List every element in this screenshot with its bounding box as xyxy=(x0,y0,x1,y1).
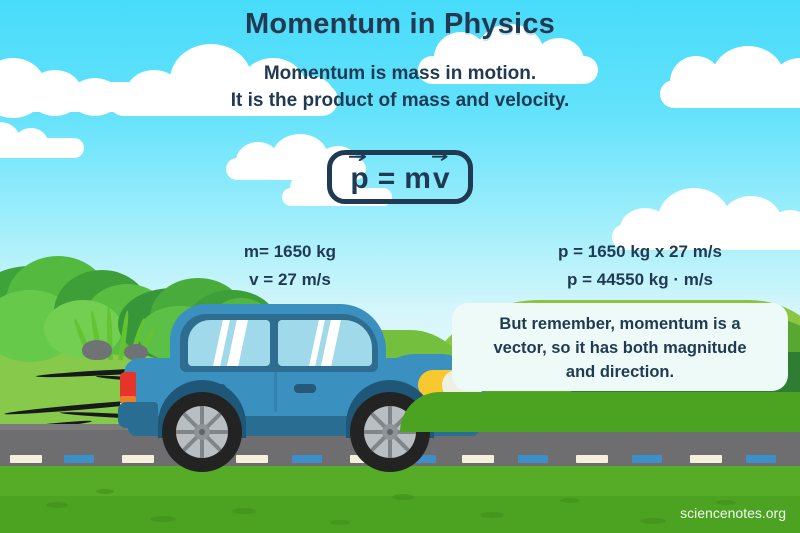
calc-line-1: p = 1650 kg x 27 m/s xyxy=(490,238,790,266)
infographic-canvas: Momentum in Physics Momentum is mass in … xyxy=(0,0,800,533)
car-door-seam xyxy=(274,372,277,412)
rock-left xyxy=(82,340,112,360)
formula-m: m xyxy=(404,164,431,194)
note-line-3: and direction. xyxy=(464,360,776,384)
page-title: Momentum in Physics xyxy=(0,8,800,41)
formula-v: v xyxy=(433,162,450,195)
hill-near xyxy=(400,392,800,432)
calc-line-2: p = 44550 kg · m/s xyxy=(490,266,790,294)
given-velocity: v = 27 m/s xyxy=(180,266,400,294)
formula-equals: = xyxy=(378,164,396,194)
vector-arrow-icon xyxy=(432,151,449,161)
formula-p: p xyxy=(350,162,368,195)
vector-v: v xyxy=(433,164,450,194)
calculation-values: p = 1650 kg x 27 m/s p = 44550 kg · m/s xyxy=(490,238,790,294)
given-mass: m= 1650 kg xyxy=(180,238,400,266)
subtitle-line-1: Momentum is mass in motion. xyxy=(0,60,800,87)
note-bubble: But remember, momentum is a vector, so i… xyxy=(452,303,788,391)
momentum-formula: p = m v xyxy=(350,160,449,194)
subtitle-line-2: It is the product of mass and velocity. xyxy=(0,87,800,114)
vector-arrow-icon xyxy=(349,151,367,161)
note-line-1: But remember, momentum is a xyxy=(464,312,776,336)
vector-p: p xyxy=(350,164,368,194)
car-rear-window xyxy=(188,320,270,366)
car-illustration xyxy=(118,296,488,471)
given-values: m= 1650 kg v = 27 m/s xyxy=(180,238,400,294)
formula-box: p = m v xyxy=(327,150,473,204)
car-rear-bumper xyxy=(118,402,158,428)
note-line-2: vector, so it has both magnitude xyxy=(464,336,776,360)
car-door-handle-front xyxy=(294,384,316,393)
subtitle: Momentum is mass in motion. It is the pr… xyxy=(0,60,800,114)
watermark: sciencenotes.org xyxy=(680,505,786,521)
car-front-window xyxy=(278,320,372,366)
